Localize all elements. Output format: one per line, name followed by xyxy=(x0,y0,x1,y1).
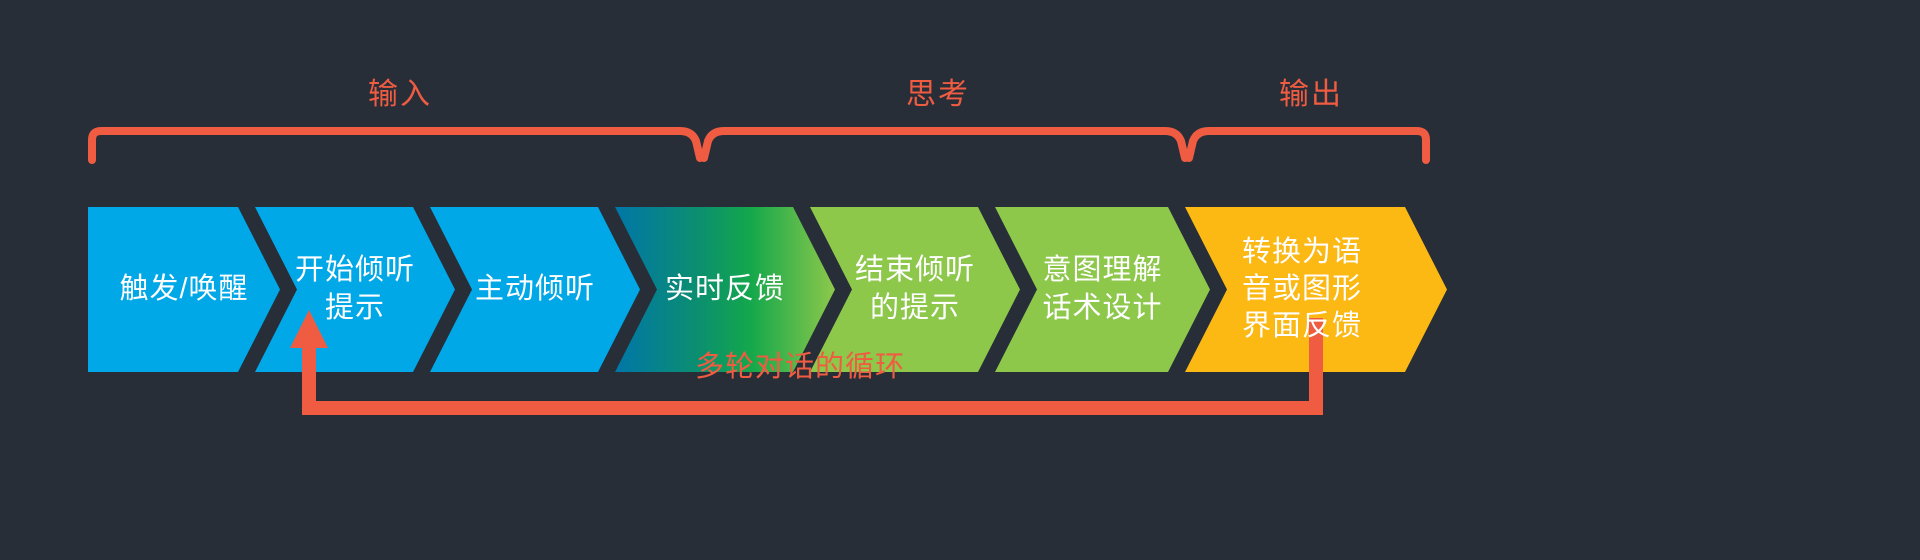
brace-segment-input xyxy=(92,131,700,160)
process-step-end-listening-prompt[interactable]: 结束倾听 的提示 xyxy=(810,207,1020,372)
process-step-label-4: 实时反馈 xyxy=(665,271,785,308)
phase-label-output: 输出 xyxy=(1279,80,1343,110)
phase-label-output-text: 输出 xyxy=(1279,78,1343,111)
process-step-realtime-feedback[interactable]: 实时反馈 xyxy=(615,207,835,372)
process-step-label-6: 意图理解 话术设计 xyxy=(1042,252,1162,326)
process-step-label-7: 转换为语 音或图形 界面反馈 xyxy=(1242,234,1362,345)
process-step-label-3: 主动倾听 xyxy=(475,271,595,308)
phase-label-think: 思考 xyxy=(906,80,970,110)
phase-label-input-text: 输入 xyxy=(368,78,432,111)
process-step-intent-understanding[interactable]: 意图理解 话术设计 xyxy=(995,207,1210,372)
process-step-active-listening[interactable]: 主动倾听 xyxy=(430,207,640,372)
brace-segment-output xyxy=(1189,131,1426,160)
process-step-label-2: 开始倾听 提示 xyxy=(295,252,415,326)
diagram-canvas: 输入 思考 输出 触发/唤醒 开始倾听 提示 xyxy=(0,0,1920,560)
feedback-loop-caption: 多轮对话的循环 xyxy=(695,353,905,382)
process-step-start-listening-prompt[interactable]: 开始倾听 提示 xyxy=(255,207,455,372)
brace-segment-think xyxy=(704,131,1185,158)
phase-label-think-text: 思考 xyxy=(906,78,970,111)
process-step-label-1: 触发/唤醒 xyxy=(119,271,248,308)
process-chevron-band: 触发/唤醒 开始倾听 提示 主动倾听 xyxy=(0,207,1920,372)
process-step-label-5: 结束倾听 的提示 xyxy=(855,252,975,326)
feedback-loop-caption-text: 多轮对话的循环 xyxy=(695,351,905,383)
process-step-convert-to-voice-or-gui[interactable]: 转换为语 音或图形 界面反馈 xyxy=(1185,207,1447,372)
phase-label-input: 输入 xyxy=(368,80,432,110)
process-step-trigger-wake[interactable]: 触发/唤醒 xyxy=(88,207,280,372)
